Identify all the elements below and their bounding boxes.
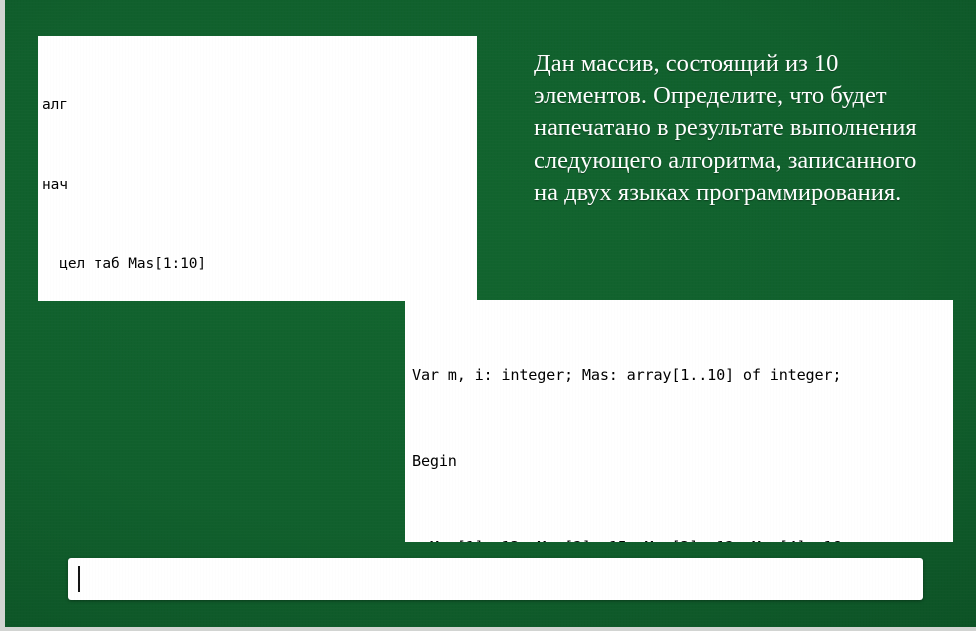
code-line: Var m, i: integer; Mas: array[1..10] of … <box>412 361 953 390</box>
code-line: Begin <box>412 447 953 476</box>
code-line: алг <box>42 92 477 119</box>
pascal-code-block: Var m, i: integer; Mas: array[1..10] of … <box>405 300 953 542</box>
text-caret <box>78 566 80 592</box>
algorithmic-language-code-block: алг нач цел таб Mas[1:10] цел m, i Mas[1… <box>38 36 477 301</box>
slide-canvas: алг нач цел таб Mas[1:10] цел m, i Mas[1… <box>0 0 976 631</box>
code-line: нач <box>42 172 477 199</box>
question-prompt: Дан массив, состоящий из 10 элементов. О… <box>534 48 942 209</box>
code-line: цел таб Mas[1:10] <box>42 251 477 278</box>
answer-input[interactable] <box>68 558 923 600</box>
code-line: Mas[1]:=13; Mas[2]:=15; Mas[3]:=12; Mas[… <box>412 533 953 542</box>
